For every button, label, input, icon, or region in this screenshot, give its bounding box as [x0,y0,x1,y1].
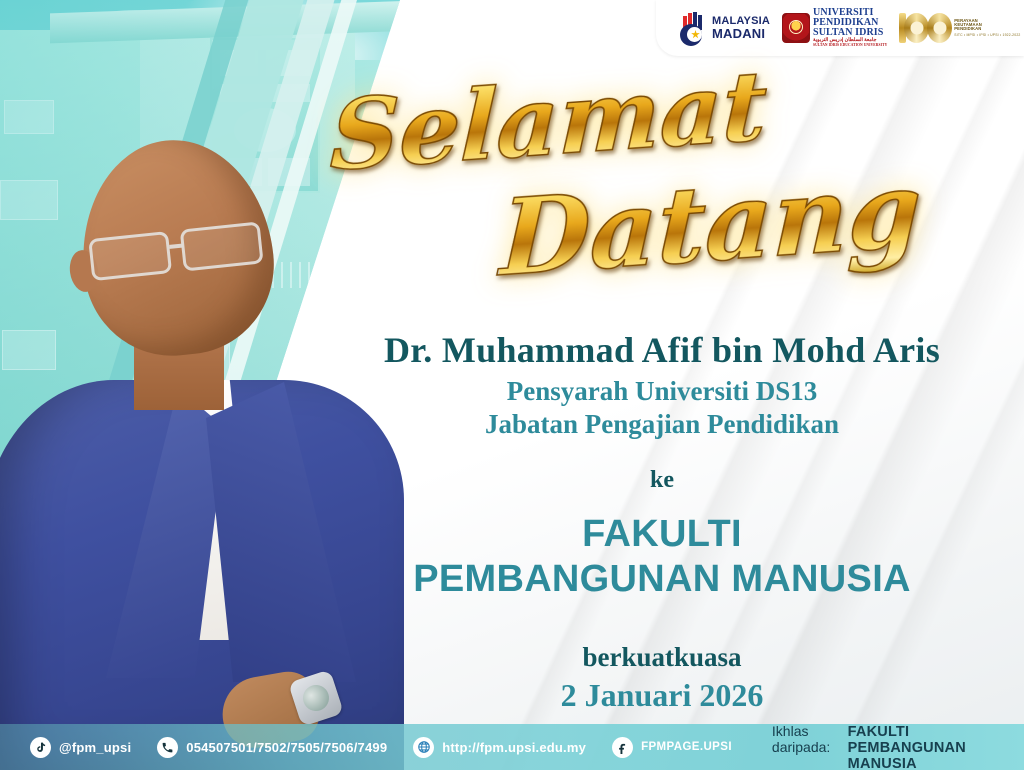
signoff-label: Ikhlas daripada: [772,723,840,755]
signoff-organization: FAKULTI PEMBANGUNAN MANUSIA [848,724,1024,770]
person-department: Jabatan Pengajian Pendidikan [300,408,1024,441]
logo-malaysia-madani: MALAYSIA MADANI [678,12,770,44]
madani-line2: MADANI [712,27,770,40]
logo-bar: MALAYSIA MADANI UNIVERSITI PENDIDIKAN SU… [656,0,1024,56]
person-role: Pensyarah Universiti DS13 [300,375,1024,408]
h100-line3: PENDIDIKAN [954,27,1020,31]
h100-years: SITC • MPSI • IPSI • UPSI • 1922-2022 [954,34,1020,38]
connector-word: ke [300,467,1024,494]
effective-label: berkuatkuasa [300,642,1024,673]
phone-numbers: 054507501/7502/7505/7506/7499 [186,740,387,755]
footer-contact-facebook[interactable]: FPMPAGE.UPSI [612,737,732,758]
upsi-crest-icon [782,13,810,43]
person-name: Dr. Muhammad Afif bin Mohd Aris [300,330,1024,370]
footer-bar: @fpm_upsi 054507501/7502/7505/7506/7499 … [0,724,1024,770]
facebook-page: FPMPAGE.UPSI [641,741,732,753]
facebook-icon [612,737,633,758]
phone-icon [157,737,178,758]
footer-contact-tiktok[interactable]: @fpm_upsi [30,737,131,758]
effective-date: 2 Januari 2026 [300,677,1024,714]
welcome-banner: MALAYSIA MADANI UNIVERSITI PENDIDIKAN SU… [0,0,1024,770]
tiktok-handle: @fpm_upsi [59,740,131,755]
website-url: http://fpm.upsi.edu.my [442,740,586,755]
footer-contact-phone[interactable]: 054507501/7502/7505/7506/7499 [157,737,387,758]
content-block: Dr. Muhammad Afif bin Mohd Aris Pensyara… [300,330,1024,714]
globe-icon [413,737,434,758]
hundred-years-icon [899,13,952,43]
logo-100-tahun: PERAYAAN KEUTAMAAN PENDIDIKAN SITC • MPS… [899,13,1020,43]
malaysia-madani-icon [678,12,708,44]
faculty-name-line2: PEMBANGUNAN MANUSIA [300,557,1024,602]
upsi-subtitle: SULTAN IDRIS EDUCATION UNIVERSITY [813,44,887,48]
faculty-name-line1: FAKULTI [300,512,1024,557]
upsi-line3: SULTAN IDRIS [813,28,887,38]
footer-contact-website[interactable]: http://fpm.upsi.edu.my [413,737,586,758]
footer-signoff: Ikhlas daripada: FAKULTI PEMBANGUNAN MAN… [772,723,1024,770]
tiktok-icon [30,737,51,758]
logo-upsi: UNIVERSITI PENDIDIKAN SULTAN IDRIS جامعة… [782,8,887,48]
